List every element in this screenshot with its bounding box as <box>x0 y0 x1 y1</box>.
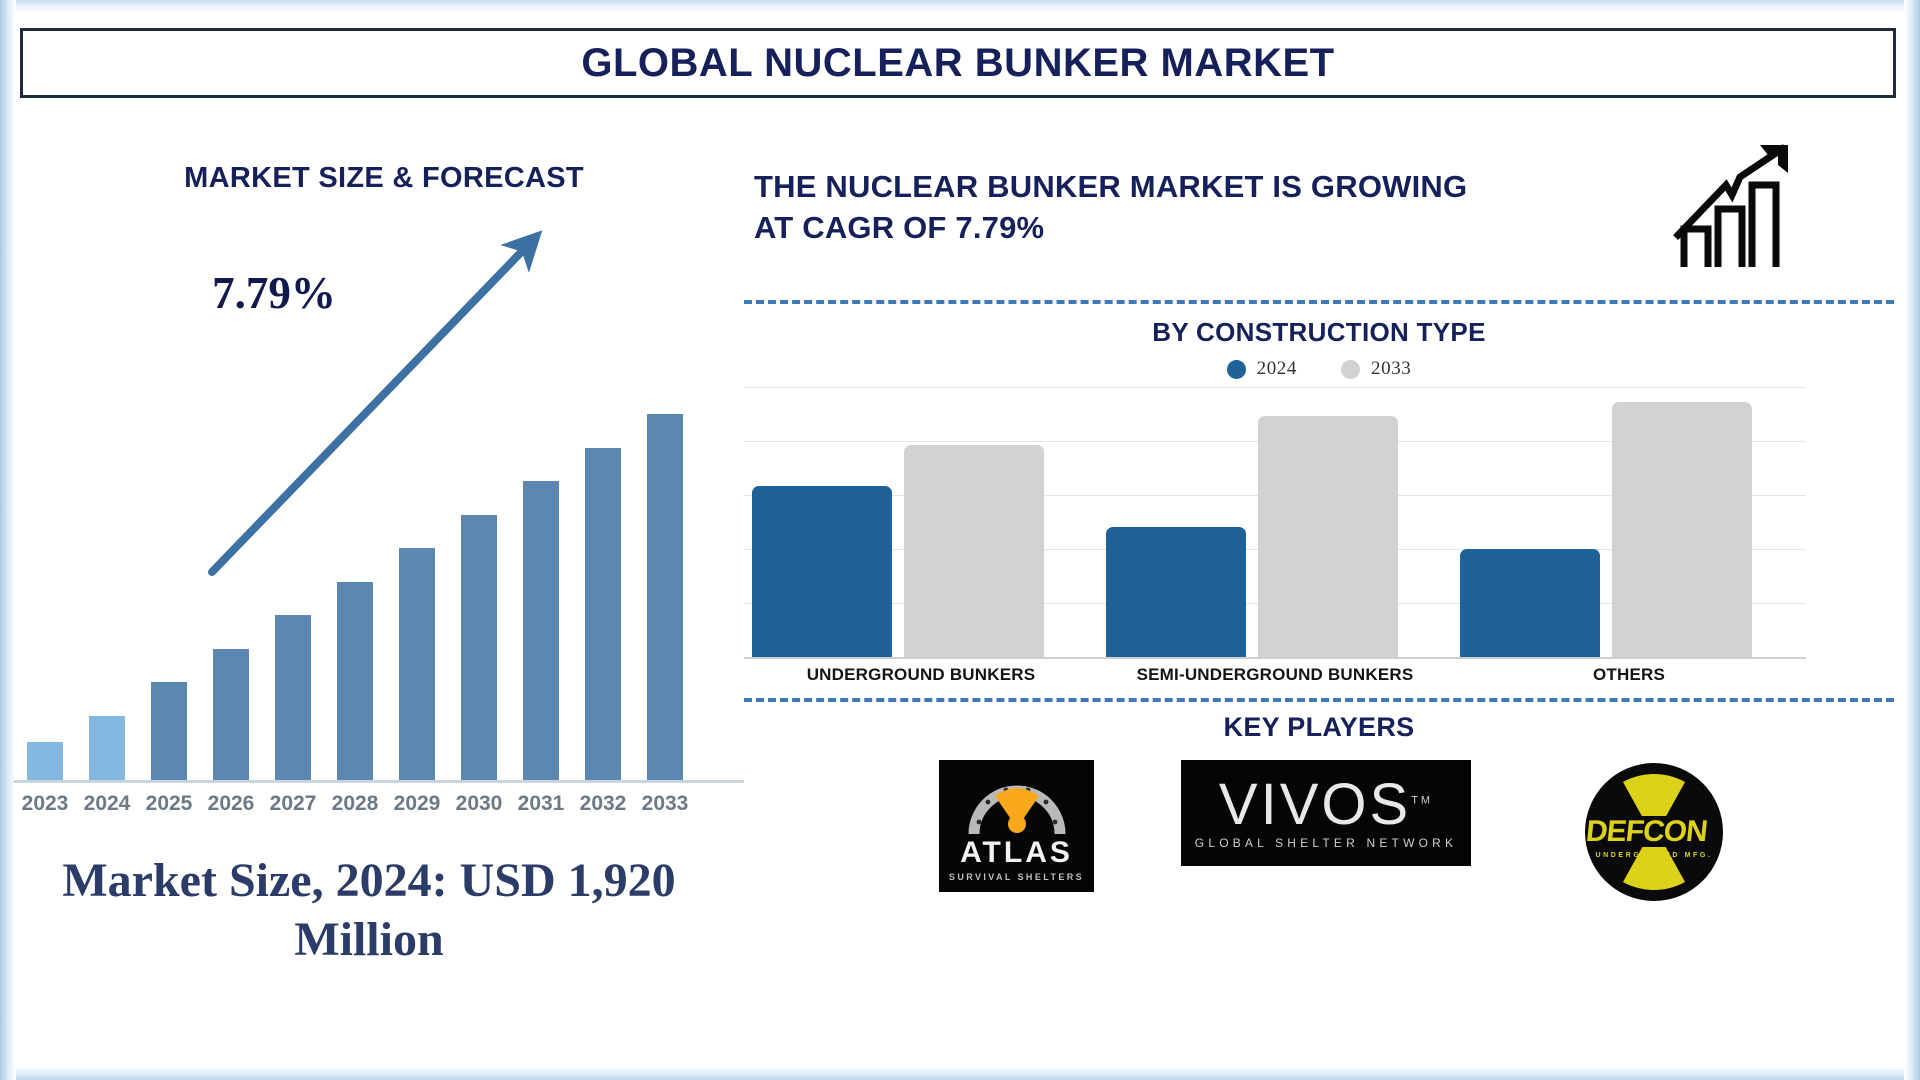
right-panel: THE NUCLEAR BUNKER MARKET IS GROWING AT … <box>744 112 1906 1062</box>
construction-type-bar-chart <box>744 387 1894 657</box>
market-size-bar <box>647 414 683 780</box>
infographic-page: GLOBAL NUCLEAR BUNKER MARKET MARKET SIZE… <box>0 0 1920 1080</box>
market-size-value: Market Size, 2024: USD 1,920 Million <box>24 852 714 969</box>
market-size-bar <box>337 582 373 780</box>
page-title: GLOBAL NUCLEAR BUNKER MARKET <box>581 41 1334 86</box>
market-size-bar <box>461 515 497 780</box>
construction-type-bar <box>1258 416 1398 657</box>
atlas-logo-wordmark: ATLAS <box>960 838 1073 868</box>
market-size-bar <box>151 682 187 780</box>
market-size-x-label: 2030 <box>448 792 510 816</box>
key-players-title: KEY PLAYERS <box>744 712 1894 743</box>
bar-chart-growth-icon <box>1664 137 1804 272</box>
divider-top <box>744 300 1894 304</box>
market-size-forecast-panel: MARKET SIZE & FORECAST 7.79% 20232024202… <box>14 112 744 1062</box>
market-size-x-label: 2031 <box>510 792 572 816</box>
construction-type-x-label: SEMI-UNDERGROUND BUNKERS <box>1098 665 1452 685</box>
legend-label-2024: 2024 <box>1257 358 1297 380</box>
construction-type-title: BY CONSTRUCTION TYPE <box>744 317 1894 348</box>
market-size-bar <box>585 448 621 780</box>
market-size-bar <box>27 742 63 780</box>
market-size-x-label: 2027 <box>262 792 324 816</box>
defcon-underground-logo: DEFCON UNDERGROUND MFG. <box>1579 760 1729 905</box>
legend-dot-2033 <box>1341 360 1360 379</box>
market-size-bar <box>89 716 125 780</box>
cagr-headline: THE NUCLEAR BUNKER MARKET IS GROWING AT … <box>754 167 1514 249</box>
infographic-canvas: GLOBAL NUCLEAR BUNKER MARKET MARKET SIZE… <box>14 12 1906 1068</box>
construction-type-x-label: UNDERGROUND BUNKERS <box>744 665 1098 685</box>
svg-text:DEFCON: DEFCON <box>1584 815 1708 848</box>
vivos-logo-wordmark: VIVOSTM <box>1219 776 1433 834</box>
vivos-logo: VIVOSTM GLOBAL SHELTER NETWORK <box>1181 760 1471 866</box>
atlas-radiation-mark <box>962 766 1072 840</box>
atlas-logo-tagline: SURVIVAL SHELTERS <box>949 872 1084 882</box>
left-chart-x-axis-labels: 2023202420252026202720282029203020312032… <box>14 792 744 832</box>
market-size-x-label: 2024 <box>76 792 138 816</box>
construction-type-bar <box>1612 402 1752 657</box>
market-size-x-label: 2029 <box>386 792 448 816</box>
legend-item-2024: 2024 <box>1227 358 1297 380</box>
construction-type-bar <box>1460 549 1600 657</box>
market-size-x-label: 2028 <box>324 792 386 816</box>
market-size-bar <box>213 649 249 780</box>
construction-type-bar <box>1106 527 1246 657</box>
key-players-logos: ATLAS SURVIVAL SHELTERS VIVOSTM GLOBAL S… <box>744 760 1894 905</box>
market-size-bar <box>275 615 311 780</box>
legend-item-2033: 2033 <box>1341 358 1411 380</box>
market-size-x-label: 2023 <box>14 792 76 816</box>
construction-chart-legend: 2024 2033 <box>744 358 1894 380</box>
market-size-bar <box>399 548 435 780</box>
market-size-x-label: 2025 <box>138 792 200 816</box>
atlas-survival-shelters-logo: ATLAS SURVIVAL SHELTERS <box>939 760 1094 892</box>
market-size-x-label: 2033 <box>634 792 696 816</box>
market-size-bar-chart <box>14 414 744 780</box>
market-size-x-label: 2026 <box>200 792 262 816</box>
svg-text:UNDERGROUND MFG.: UNDERGROUND MFG. <box>1595 852 1712 859</box>
construction-type-bar <box>904 445 1044 657</box>
vivos-logo-tagline: GLOBAL SHELTER NETWORK <box>1195 836 1457 850</box>
market-size-x-label: 2032 <box>572 792 634 816</box>
chart-gridline <box>744 387 1806 388</box>
construction-type-x-label: OTHERS <box>1452 665 1806 685</box>
vivos-trademark-mark: TM <box>1411 795 1433 807</box>
market-size-bar <box>523 481 559 780</box>
divider-bottom <box>744 698 1894 702</box>
market-size-forecast-heading: MARKET SIZE & FORECAST <box>114 162 654 195</box>
left-chart-axis <box>14 780 744 783</box>
title-bar: GLOBAL NUCLEAR BUNKER MARKET <box>20 28 1896 98</box>
legend-label-2033: 2033 <box>1371 358 1411 380</box>
legend-dot-2024 <box>1227 360 1246 379</box>
construction-type-bar <box>752 486 892 657</box>
construction-chart-baseline <box>744 657 1806 659</box>
